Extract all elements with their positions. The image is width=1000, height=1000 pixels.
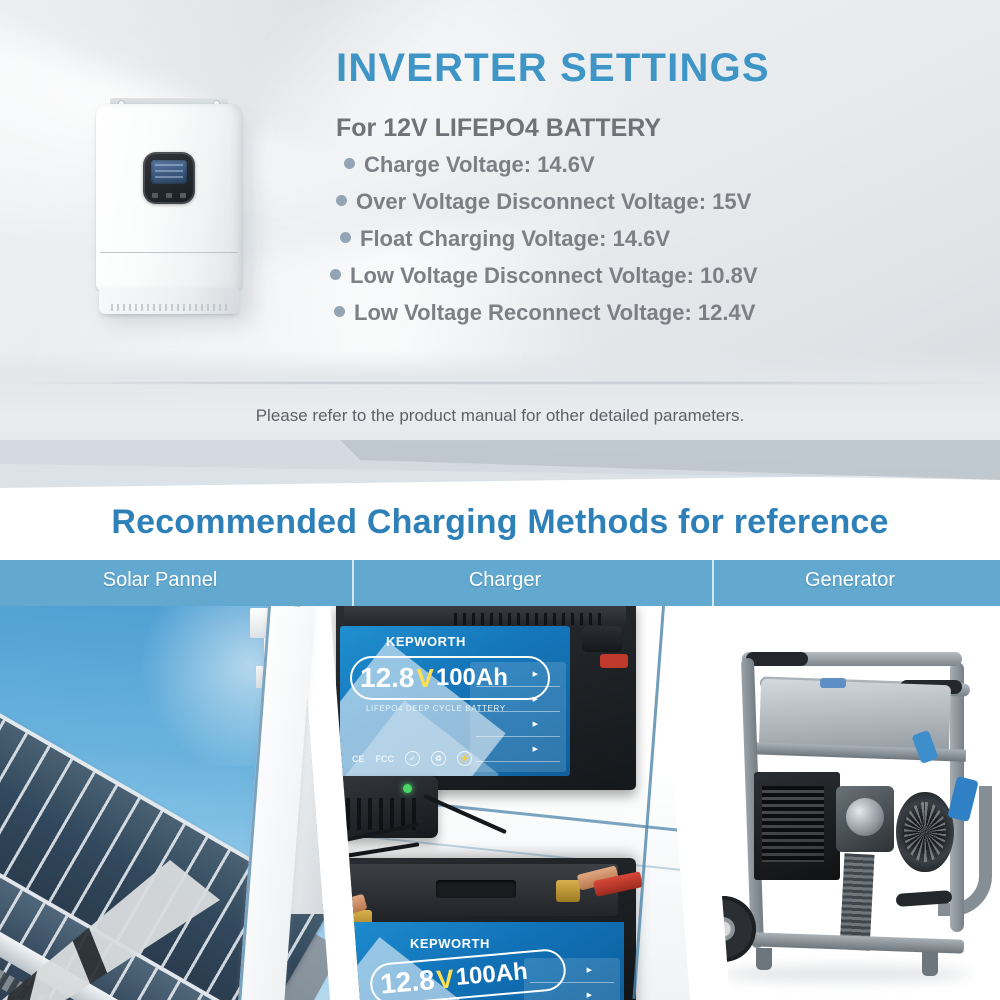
battery-brand-text: KEPWORTH [410, 936, 490, 951]
generator-fan-fins [904, 802, 946, 862]
table-row [476, 746, 560, 762]
generator-foot [922, 952, 938, 976]
inverter-lcd-panel [143, 152, 195, 204]
list-item: Over Voltage Disconnect Voltage: 15V [330, 191, 930, 213]
page-title: INVERTER SETTINGS [336, 46, 770, 91]
generator-fuel-cap [820, 678, 846, 688]
cert-ce-mark: CE [352, 754, 365, 764]
inverter-lcd-screen [151, 160, 187, 184]
battery-spec-table [470, 662, 566, 772]
charger-brick [314, 776, 438, 838]
column-label-band: Solar Pannel Charger Generator [0, 560, 1000, 606]
charging-methods-heading: Recommended Charging Methods for referen… [0, 503, 1000, 542]
table-row [476, 696, 560, 712]
label-band-separator [712, 560, 714, 606]
column-label-generator: Generator [735, 569, 965, 592]
bullet-dot-icon [330, 269, 341, 280]
spec-text: Low Voltage Reconnect Voltage: 12.4V [354, 302, 755, 324]
gasoline-generator-photo [660, 606, 1000, 1000]
list-item: Low Voltage Disconnect Voltage: 10.8V [330, 265, 930, 287]
generator-cooling-louvers [762, 786, 824, 862]
inverter-settings-section: INVERTER SETTINGS For 12V LIFEPO4 BATTER… [0, 0, 1000, 470]
inverter-body [96, 104, 242, 290]
battery-label: KEPWORTH 12.8 V 100Ah [332, 922, 624, 1000]
battery-terminal-cover [582, 626, 622, 652]
table-row [476, 671, 560, 687]
table-row [530, 967, 614, 983]
generator-foot [756, 948, 772, 970]
battery-voltage-value: 12.8 [379, 964, 436, 1000]
spec-text: Low Voltage Disconnect Voltage: 10.8V [350, 265, 758, 287]
section-divider [0, 440, 1000, 504]
column-label-solar: Solar Pannel [40, 569, 280, 592]
battery-type-subtitle: For 12V LIFEPO4 BATTERY [336, 114, 661, 143]
inverter-seam [100, 252, 238, 253]
bullet-dot-icon [336, 195, 347, 206]
list-item: Charge Voltage: 14.6V [330, 154, 930, 176]
inverter-vents [111, 304, 229, 311]
battery-positive-clamp [600, 654, 628, 668]
battery-carry-handle [436, 880, 516, 898]
spec-text: Float Charging Voltage: 14.6V [360, 228, 670, 250]
bullet-dot-icon [344, 158, 355, 169]
list-item: Float Charging Voltage: 14.6V [330, 228, 930, 250]
inverter-base [99, 288, 239, 314]
generator-handle-grip [746, 652, 808, 666]
product-infographic-page: INVERTER SETTINGS For 12V LIFEPO4 BATTER… [0, 0, 1000, 1000]
charging-methods-gallery: KEPWORTH 12.8 V 100Ah LIFEPO4 DEEP CYCLE… [0, 560, 1000, 1000]
column-label-charger: Charger [390, 569, 620, 592]
table-row [476, 721, 560, 737]
spec-text: Over Voltage Disconnect Voltage: 15V [356, 191, 751, 213]
certification-marks: CE FCC ✓ ♻ ⚡ [352, 751, 472, 766]
bullet-dot-icon [334, 306, 345, 317]
generator-recoil-starter [896, 792, 954, 872]
generator-air-filter [846, 798, 884, 836]
cert-msds-icon: ⚡ [457, 751, 472, 766]
wall-mount-inverter-icon [96, 104, 242, 314]
charger-status-led-icon [403, 784, 412, 793]
battery-voltage-unit: V [417, 663, 434, 694]
battery-upper: KEPWORTH 12.8 V 100Ah LIFEPO4 DEEP CYCLE… [336, 606, 636, 790]
inverter-key [152, 193, 158, 198]
manual-footnote: Please refer to the product manual for o… [0, 406, 1000, 426]
battery-charger-photo: KEPWORTH 12.8 V 100Ah LIFEPO4 DEEP CYCLE… [300, 606, 700, 1000]
label-band-separator [352, 560, 354, 606]
generator-alternator-housing [754, 772, 840, 880]
battery-capacity-value: 100Ah [455, 958, 529, 992]
battery-terminal-post [556, 880, 580, 902]
battery-label: KEPWORTH 12.8 V 100Ah LIFEPO4 DEEP CYCLE… [340, 626, 570, 776]
battery-lower: KEPWORTH 12.8 V 100Ah [306, 858, 636, 1000]
cert-un-icon: ♻ [431, 751, 446, 766]
desk-edge-line [0, 382, 1000, 384]
list-item: Low Voltage Reconnect Voltage: 12.4V [330, 302, 930, 324]
battery-voltage-value: 12.8 [360, 662, 415, 694]
generator-frame-base [752, 932, 964, 953]
inverter-key [180, 193, 186, 198]
inverter-key [166, 193, 172, 198]
inverter-keypad [152, 193, 186, 198]
inverter-spec-list: Charge Voltage: 14.6V Over Voltage Disco… [330, 154, 930, 339]
cert-fcc-mark: FCC [376, 754, 395, 764]
bullet-dot-icon [340, 232, 351, 243]
battery-lid [344, 606, 626, 626]
cert-rohs-icon: ✓ [405, 751, 420, 766]
battery-voltage-unit: V [435, 963, 455, 995]
spec-text: Charge Voltage: 14.6V [364, 154, 595, 176]
generator-wheel [690, 896, 756, 962]
battery-spec-table [524, 958, 620, 1000]
table-row [530, 992, 614, 1000]
battery-brand-text: KEPWORTH [386, 634, 466, 649]
battery-vent-slots [454, 613, 604, 625]
inverter-lcd-readout [155, 164, 183, 179]
